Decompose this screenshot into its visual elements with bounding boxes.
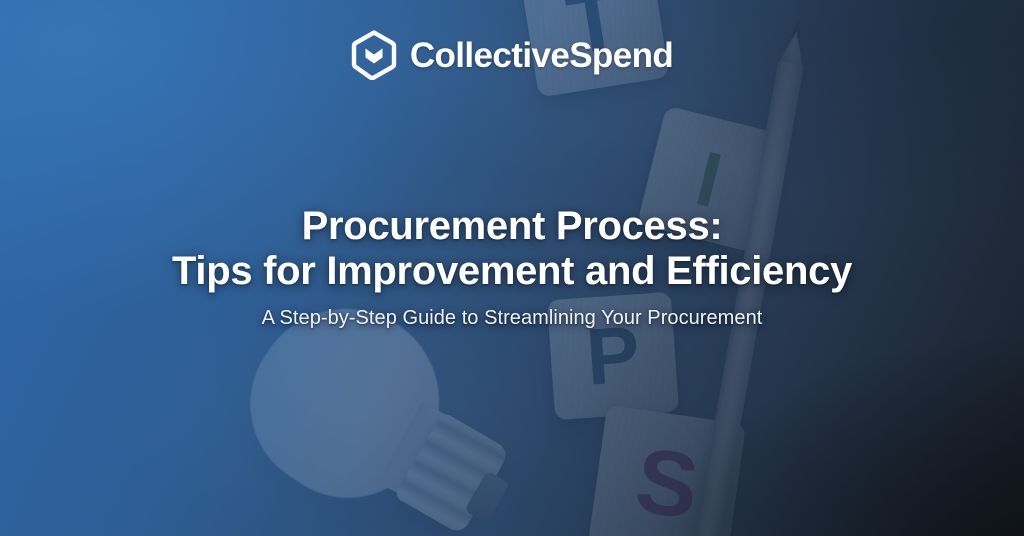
page-title-line-1: Procurement Process: [40,204,984,249]
page-title: Procurement Process: Tips for Improvemen… [40,204,984,294]
hero-content: CollectiveSpend Procurement Process: Tip… [0,0,1024,536]
page-title-line-2: Tips for Improvement and Efficiency [40,249,984,294]
brand-lockup[interactable]: CollectiveSpend [0,30,1024,80]
brand-name: CollectiveSpend [410,38,673,73]
headline-block: Procurement Process: Tips for Improvemen… [0,204,1024,331]
page-subtitle: A Step-by-Step Guide to Streamlining You… [40,306,984,331]
hero-banner: T I P S Coll [0,0,1024,536]
hexagon-check-icon [351,30,397,80]
